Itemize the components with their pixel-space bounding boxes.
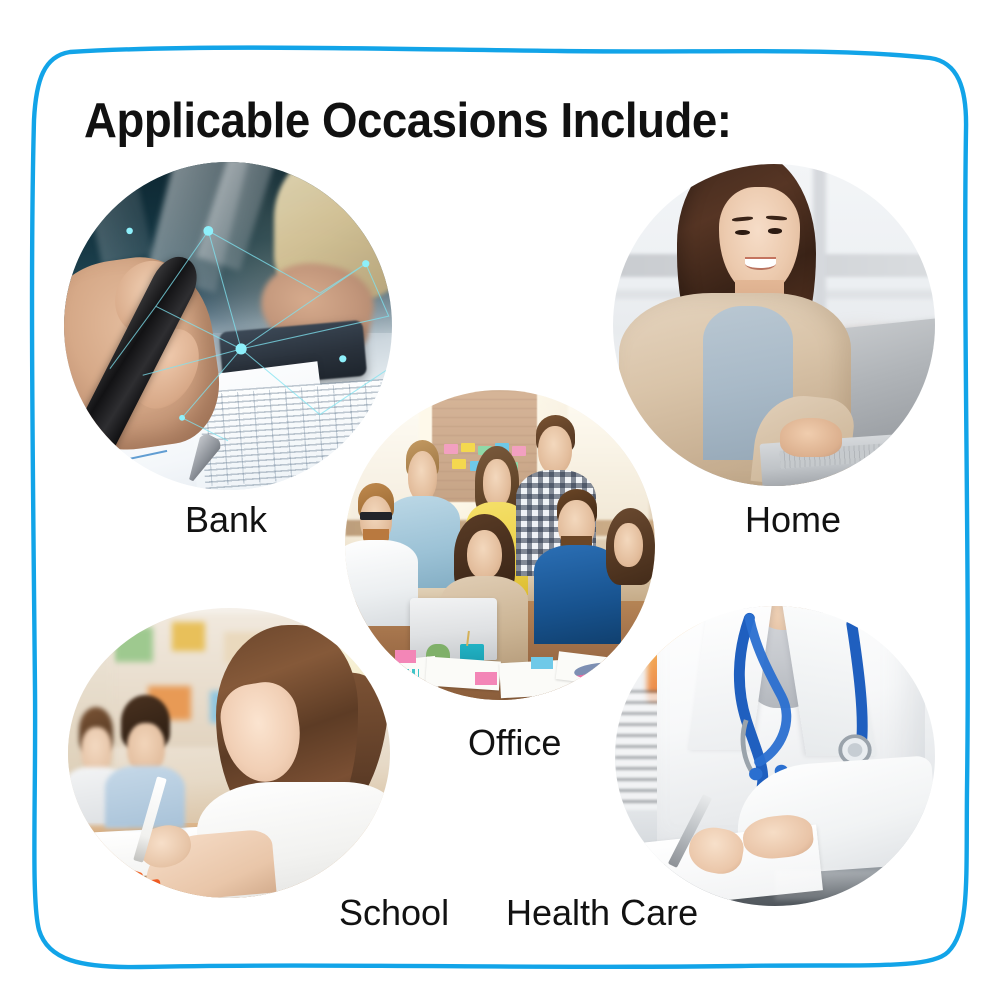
- page-title: Applicable Occasions Include:: [84, 96, 731, 146]
- occasion-image-office: [345, 390, 655, 700]
- occasion-image-home: [613, 164, 935, 486]
- occasion-image-bank: [64, 162, 392, 490]
- occasion-image-school: [68, 608, 390, 898]
- occasion-label-office: Office: [468, 725, 561, 761]
- occasion-label-bank: Bank: [185, 502, 267, 538]
- poster-canvas: Applicable Occasions Include:: [0, 0, 1000, 1000]
- occasion-image-health-care: [615, 606, 935, 906]
- occasion-label-health-care: Health Care: [506, 895, 698, 931]
- occasion-label-school: School: [339, 895, 449, 931]
- occasion-label-home: Home: [745, 502, 841, 538]
